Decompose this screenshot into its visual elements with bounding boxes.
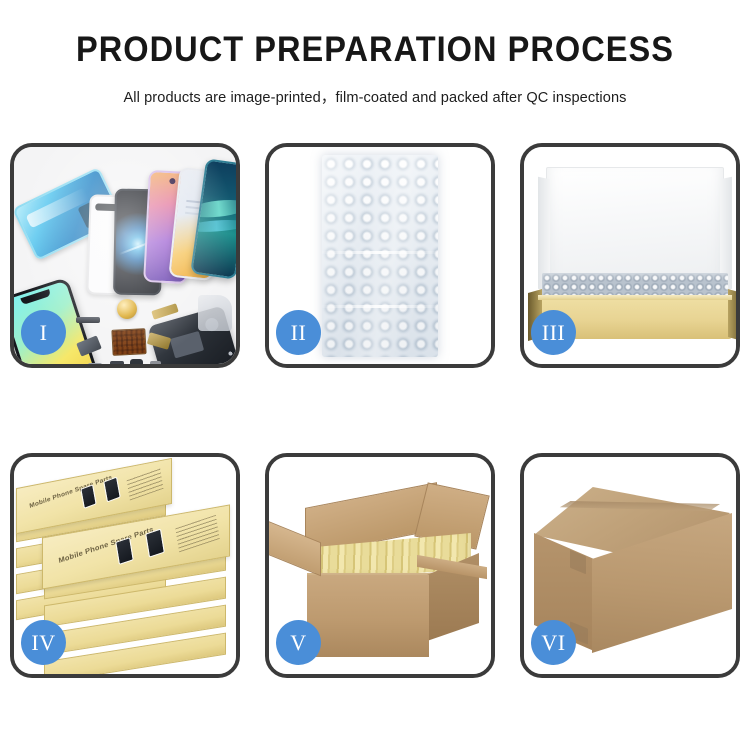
phone-photo-icon bbox=[80, 484, 96, 509]
flex-cable-c-icon bbox=[147, 332, 171, 350]
pouch-seam bbox=[322, 305, 438, 308]
chip-grid-icon bbox=[111, 328, 146, 356]
coil-part-icon bbox=[117, 299, 137, 319]
label-text-lines bbox=[126, 467, 163, 500]
page-title: PRODUCT PREPARATION PROCESS bbox=[26, 30, 724, 70]
product-preparation-infographic: PRODUCT PREPARATION PROCESS All products… bbox=[0, 0, 750, 750]
yellow-phone-icon bbox=[168, 167, 223, 281]
dark-phone-icon bbox=[113, 189, 163, 296]
flex-cable-b-icon bbox=[151, 303, 179, 320]
page-subtitle: All products are image-printed，film-coat… bbox=[15, 85, 735, 107]
small-part-4-icon bbox=[88, 363, 102, 364]
step-badge-4: IV bbox=[21, 620, 66, 665]
small-part-1-icon bbox=[110, 361, 124, 364]
step-badge-1: I bbox=[21, 310, 66, 355]
step-panel-2: II bbox=[265, 143, 495, 368]
step-panel-5: V bbox=[265, 453, 495, 678]
step-badge-6: VI bbox=[531, 620, 576, 665]
carton-front-panel bbox=[307, 575, 429, 657]
mailer-rim bbox=[538, 295, 732, 300]
small-part-2-icon bbox=[130, 359, 143, 364]
flex-cable-a-icon bbox=[76, 335, 102, 356]
step-badge-3: III bbox=[531, 310, 576, 355]
bracket-part-icon bbox=[76, 317, 100, 323]
tool-icon bbox=[198, 295, 232, 331]
label-text-lines bbox=[175, 515, 219, 553]
phone-photo-icon bbox=[145, 528, 165, 557]
bubble-wrap-sleeve-icon bbox=[322, 155, 438, 357]
teal-phone-icon bbox=[190, 158, 236, 279]
step-badge-5: V bbox=[276, 620, 321, 665]
phone-photo-icon bbox=[103, 476, 121, 502]
step-panel-3: III bbox=[520, 143, 740, 368]
step-panel-1: I bbox=[10, 143, 240, 368]
purple-phone-icon bbox=[143, 170, 193, 284]
step-badge-2: II bbox=[276, 310, 321, 355]
box-label-text: Mobile Phone Spare Parts bbox=[29, 474, 113, 510]
small-part-3-icon bbox=[150, 361, 161, 364]
logic-board-icon bbox=[148, 305, 236, 364]
glass-protector-icon bbox=[86, 194, 135, 296]
screws-icon bbox=[226, 347, 236, 364]
pouch-seam bbox=[322, 251, 438, 254]
step-panel-4: Mobile Phone Spare Parts Mobile Phone Sp… bbox=[10, 453, 240, 678]
phone-photo-icon bbox=[116, 537, 135, 565]
blue-flex-screen-icon bbox=[14, 167, 124, 261]
step-panel-6: VI bbox=[520, 453, 740, 678]
